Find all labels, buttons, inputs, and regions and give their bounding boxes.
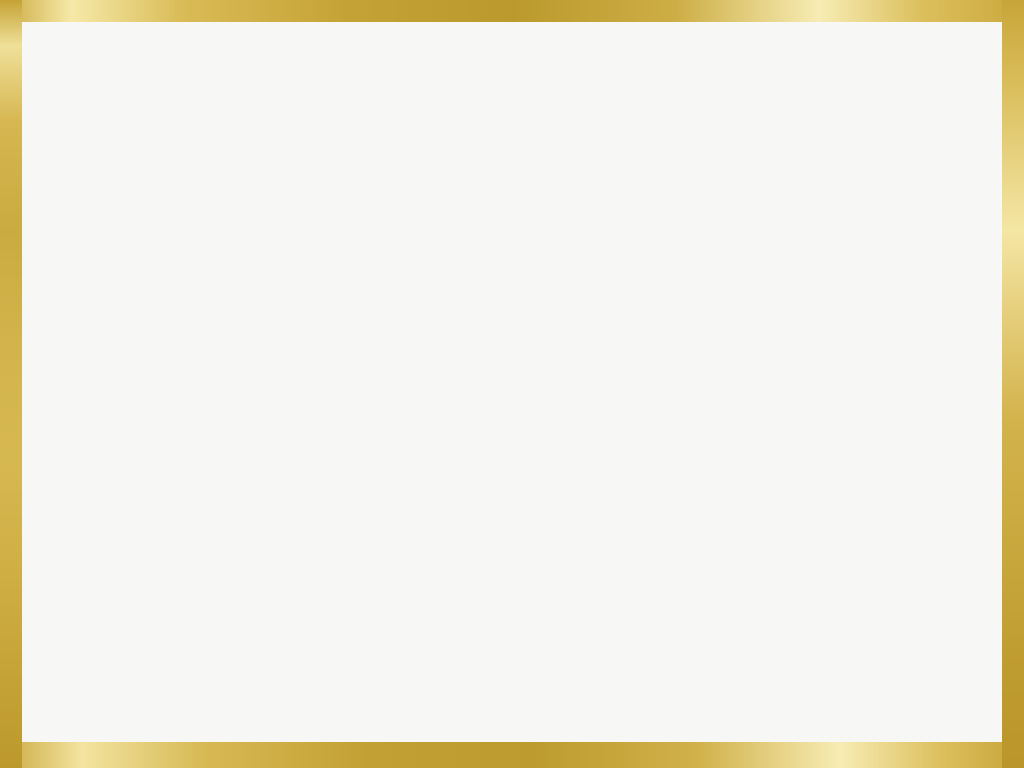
content-panel xyxy=(22,22,1002,742)
gold-frame-top xyxy=(0,0,1024,22)
gold-frame-right xyxy=(1002,0,1024,768)
gold-frame-bottom xyxy=(0,742,1024,768)
gold-certified-certificate: GOLD CERTIFIED 12-month/12,000 mile Limi… xyxy=(0,0,1024,768)
gold-frame-left xyxy=(0,0,22,768)
